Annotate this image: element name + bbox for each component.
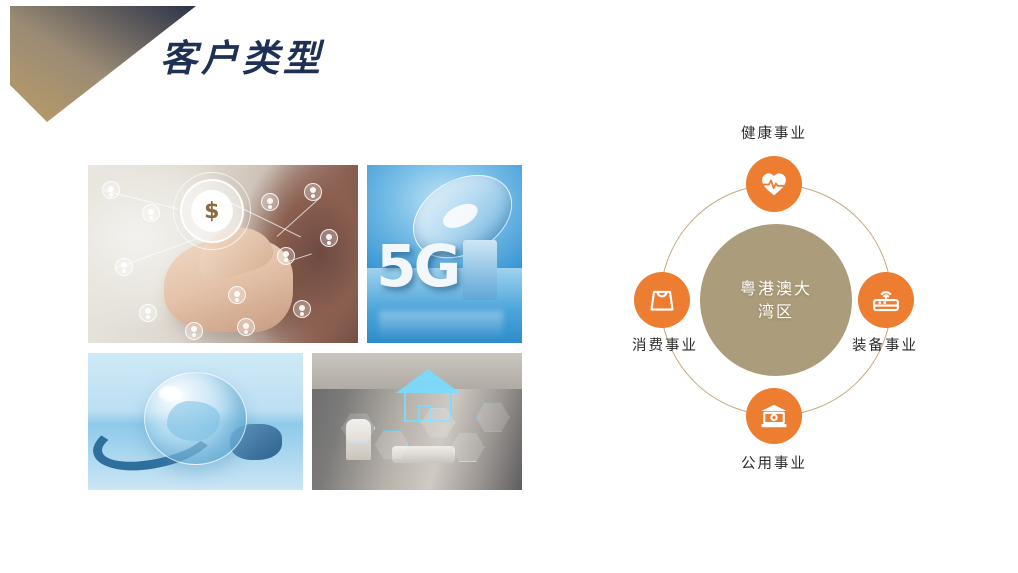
bank-building-icon — [759, 401, 789, 431]
photo-health-globe — [88, 353, 303, 490]
health-bubble[interactable] — [746, 156, 802, 212]
money-bag-dollar-icon: $ — [180, 179, 244, 243]
center-label: 粤港澳大 湾区 — [740, 277, 812, 323]
sector-label-utilities: 公用事业 — [741, 452, 807, 473]
photo-five-g: 5G — [367, 165, 522, 343]
slide-canvas: 客户类型 $ — [0, 0, 1018, 573]
photo-fintech: $ — [88, 165, 358, 343]
photo-collage: $ 5G — [88, 165, 522, 490]
equipment-bubble[interactable] — [858, 272, 914, 328]
consumer-bubble[interactable] — [634, 272, 690, 328]
diagram-center-circle: 粤港澳大 湾区 — [700, 224, 852, 376]
sector-node-utilities[interactable]: 公用事业 — [746, 388, 802, 444]
sector-node-equipment[interactable]: 装备事业 — [858, 272, 914, 328]
business-sectors-diagram: 粤港澳大 湾区 健康事业 — [590, 120, 970, 520]
wireless-router-icon — [871, 285, 901, 315]
heart-pulse-icon — [759, 169, 789, 199]
sector-label-equipment: 装备事业 — [852, 334, 918, 355]
five-g-label: 5G — [376, 243, 458, 291]
utilities-bubble[interactable] — [746, 388, 802, 444]
sector-node-consumer[interactable]: 消费事业 — [634, 272, 690, 328]
sector-label-health: 健康事业 — [741, 122, 807, 143]
sector-label-consumer: 消费事业 — [632, 334, 698, 355]
photo-smart-home — [312, 353, 522, 490]
page-title: 客户类型 — [160, 28, 324, 82]
shopping-bag-icon — [647, 285, 677, 315]
sector-node-health[interactable]: 健康事业 — [746, 156, 802, 212]
